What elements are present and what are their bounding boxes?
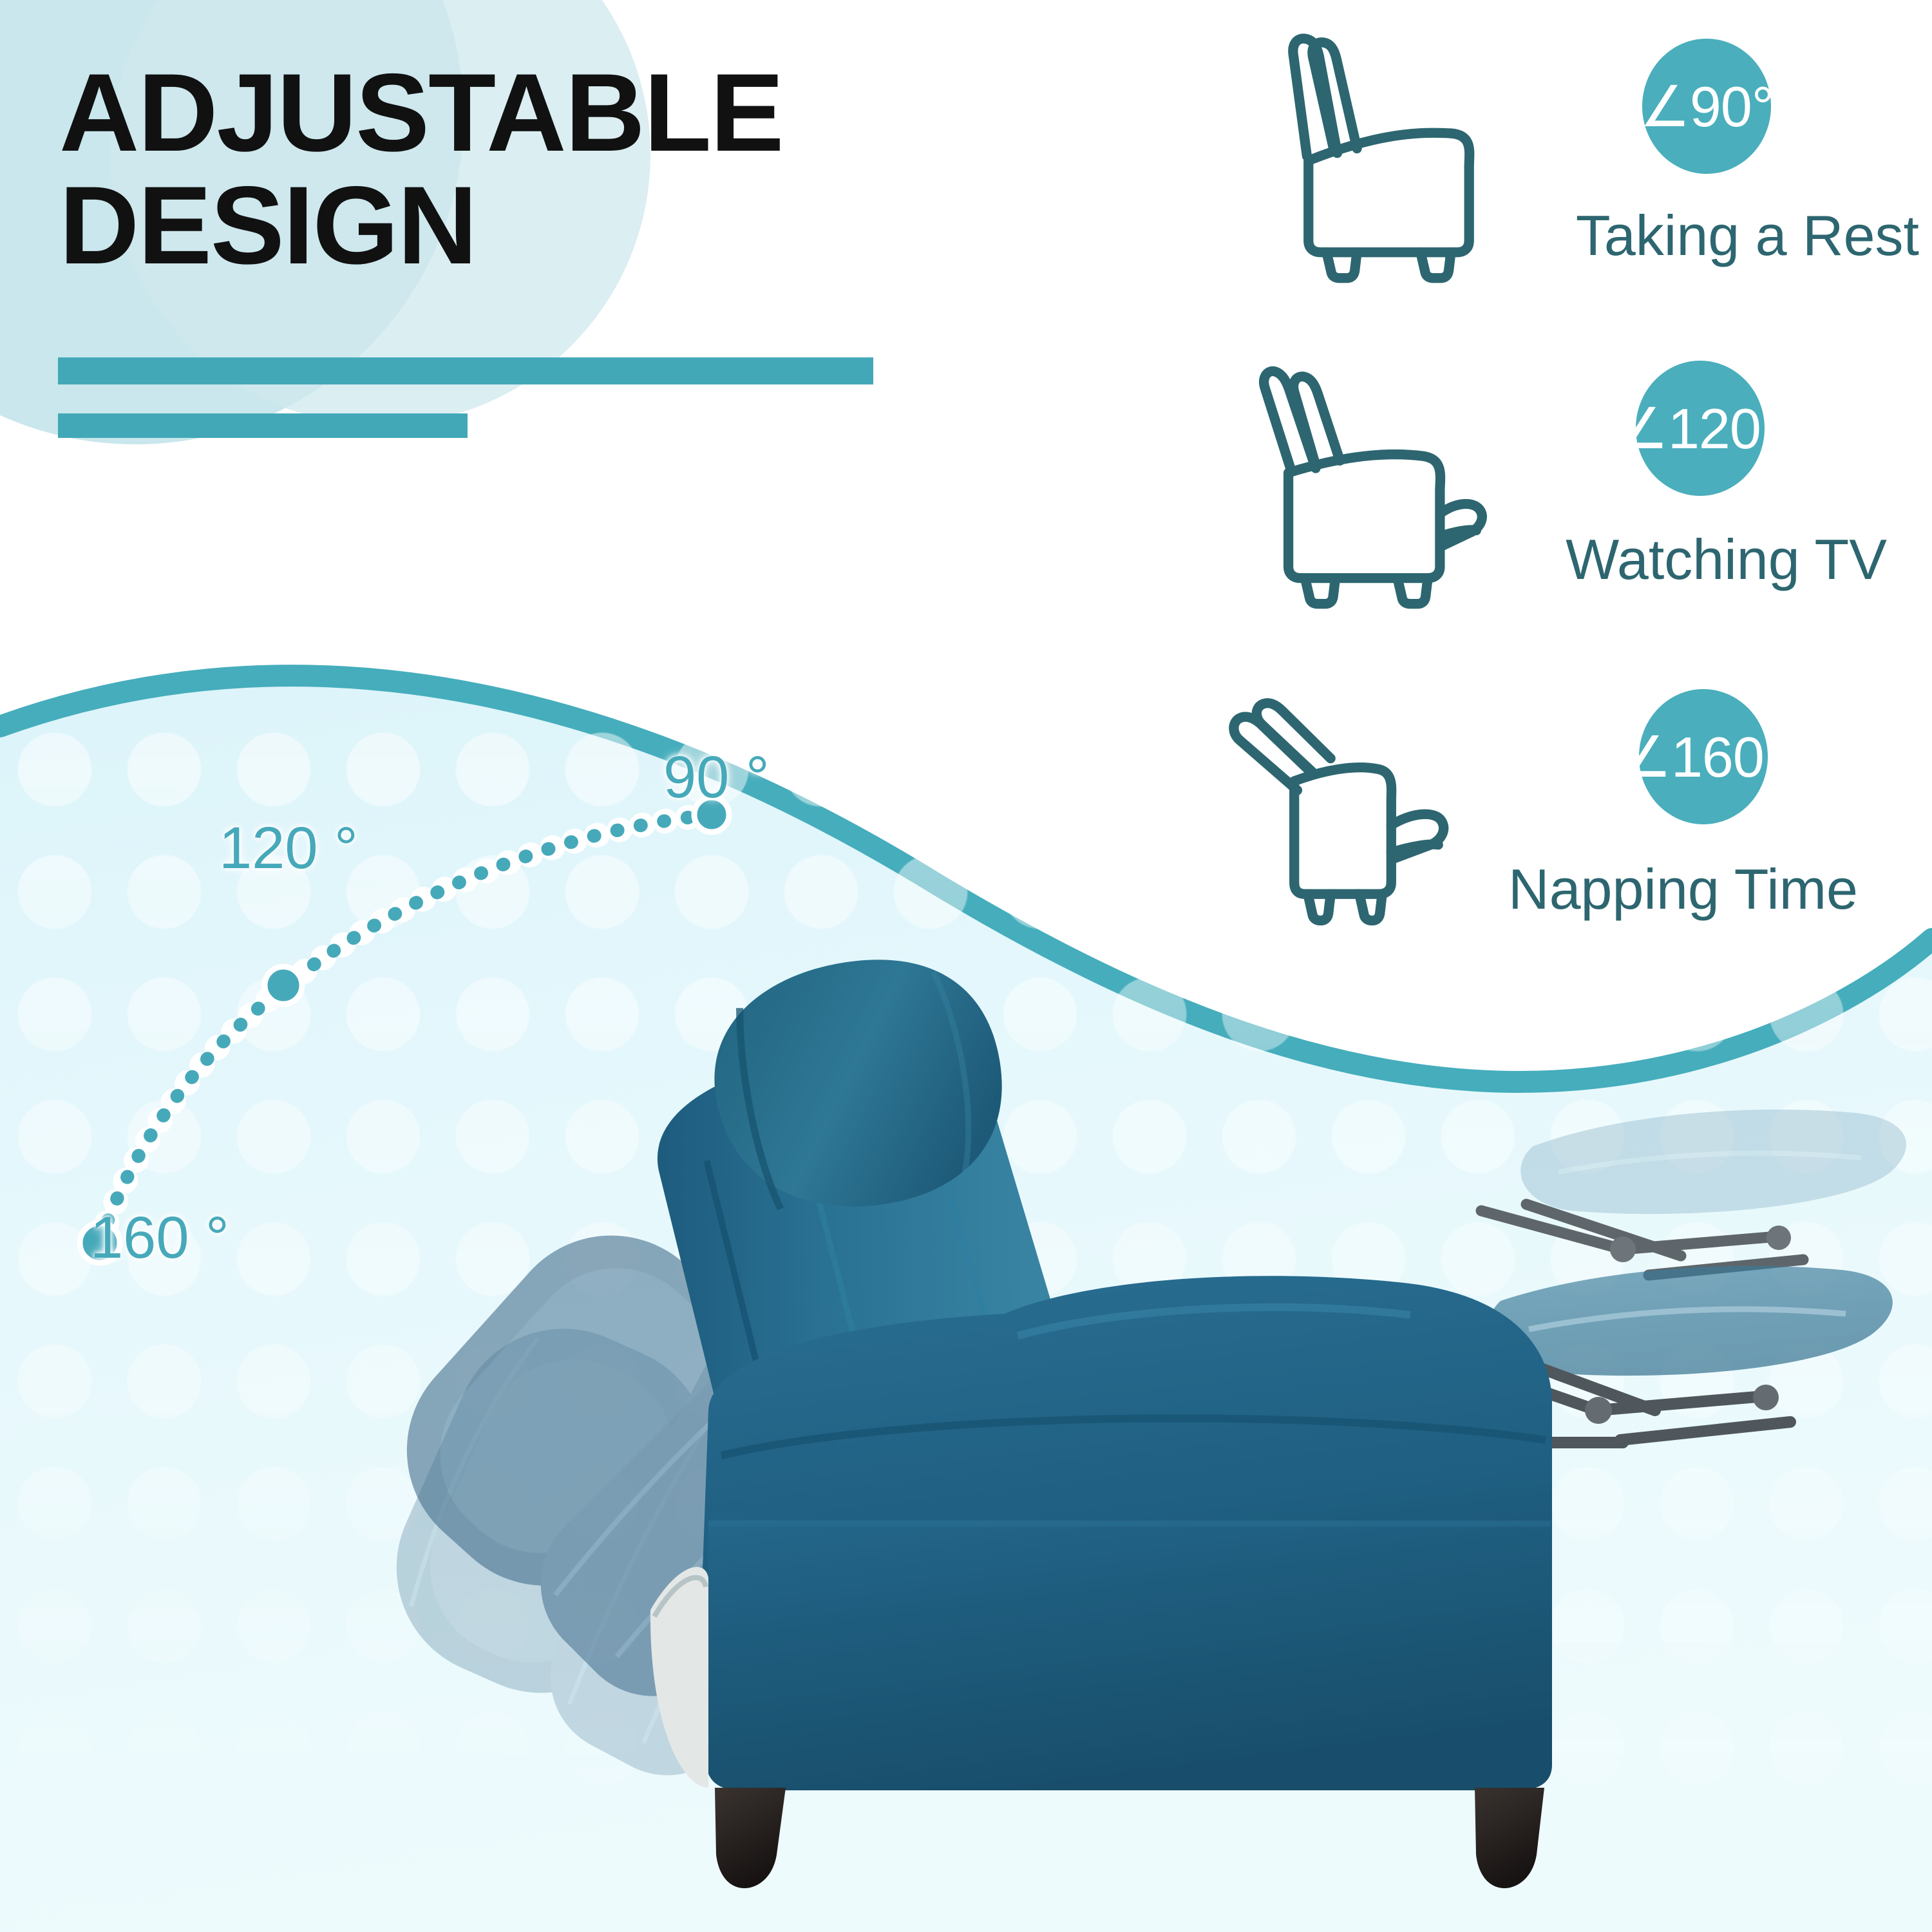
angle-badge-90: ∠90° — [1642, 39, 1771, 174]
chair-leg-back — [1475, 1788, 1544, 1888]
feature-label-1: Watching TV — [1230, 527, 1887, 592]
feature-label-0: Taking a Rest — [1262, 203, 1919, 269]
page-title: ADJUSTABLE DESIGN — [59, 57, 1025, 283]
page-title-line-2: DESIGN — [59, 169, 1025, 282]
title-rule-long — [58, 357, 873, 384]
infographic-canvas: ADJUSTABLE DESIGN ∠90° Taking a Rest — [0, 0, 1932, 1932]
feature-taking-a-rest: ∠90° Taking a Rest — [1262, 26, 1919, 303]
title-rule-short — [58, 413, 468, 438]
chair-leg-front — [715, 1788, 786, 1888]
feature-watching-tv: ∠120° Watching TV — [1230, 361, 1887, 638]
page-title-line-1: ADJUSTABLE — [59, 57, 1025, 169]
angle-badge-120: ∠120° — [1636, 361, 1765, 496]
product-image-recliner-chair — [0, 760, 1932, 1932]
recliner-main-body — [643, 941, 1552, 1888]
